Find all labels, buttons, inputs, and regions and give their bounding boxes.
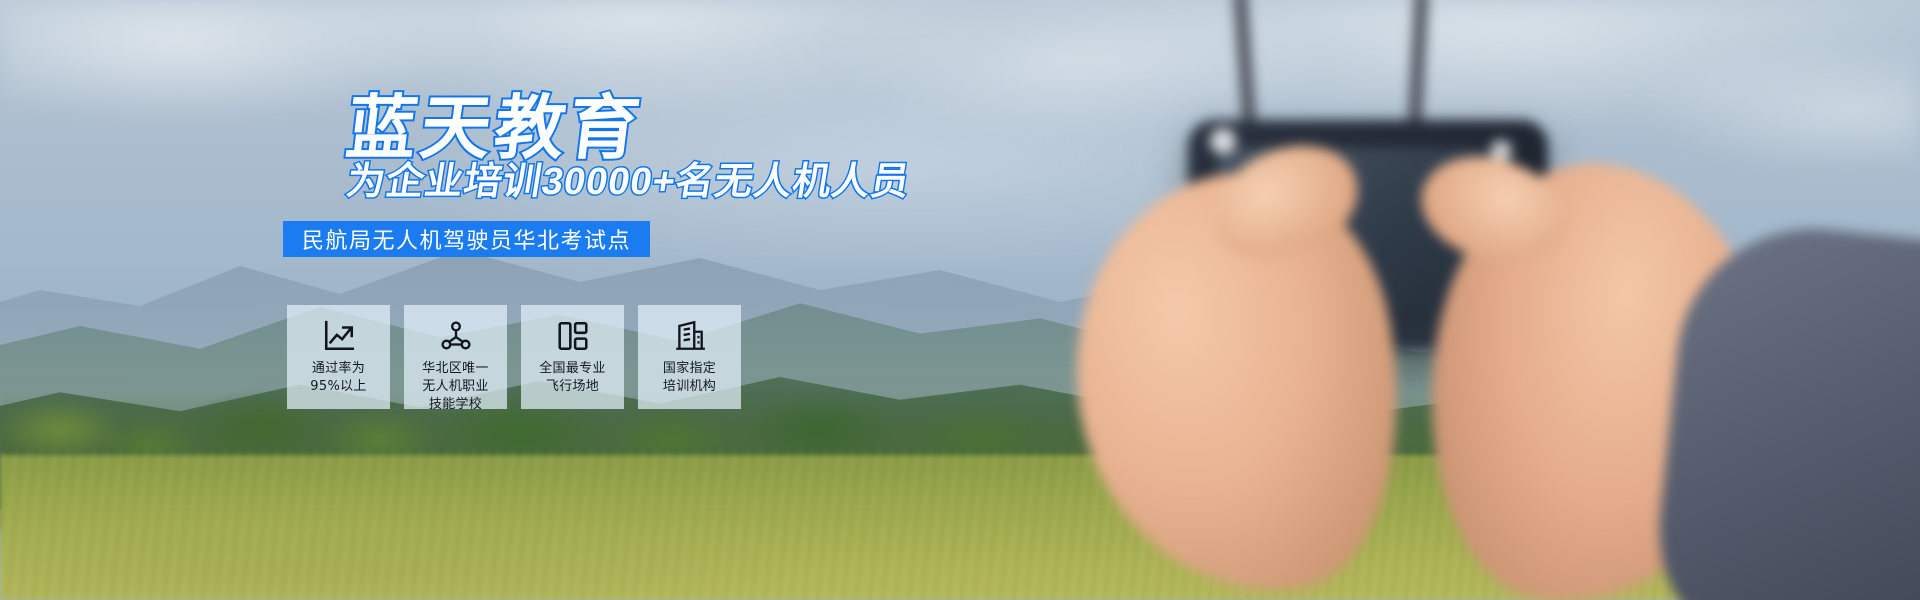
feature-card-flight-field[interactable]: 全国最专业 飞行场地 bbox=[521, 305, 624, 409]
banner-content: 蓝天教育 为企业培训30000+名无人机人员 民航局无人机驾驶员华北考试点 通过… bbox=[0, 0, 1920, 600]
feature-card-vocational-school[interactable]: 华北区唯一 无人机职业 技能学校 bbox=[404, 305, 507, 409]
feature-card-label: 国家指定 培训机构 bbox=[663, 360, 716, 396]
building-institution-icon bbox=[673, 319, 707, 353]
feature-card-national-institution[interactable]: 国家指定 培训机构 bbox=[638, 305, 741, 409]
certification-badge: 民航局无人机驾驶员华北考试点 bbox=[283, 221, 650, 257]
feature-card-list: 通过率为 95%以上 华北区唯一 无人机职业 技能学校 bbox=[287, 305, 741, 409]
feature-card-label: 全国最专业 飞行场地 bbox=[539, 360, 606, 396]
feature-card-pass-rate[interactable]: 通过率为 95%以上 bbox=[287, 305, 390, 409]
feature-card-label: 通过率为 95%以上 bbox=[310, 360, 366, 396]
banner-headline: 蓝天教育 bbox=[343, 93, 648, 163]
trending-up-chart-icon bbox=[322, 319, 356, 353]
layout-panels-icon bbox=[556, 319, 590, 353]
feature-card-label: 华北区唯一 无人机职业 技能学校 bbox=[422, 360, 489, 414]
hero-banner: 蓝天教育 为企业培训30000+名无人机人员 民航局无人机驾驶员华北考试点 通过… bbox=[0, 0, 1920, 600]
network-nodes-icon bbox=[439, 319, 473, 353]
banner-subheadline: 为企业培训30000+名无人机人员 bbox=[344, 163, 913, 201]
